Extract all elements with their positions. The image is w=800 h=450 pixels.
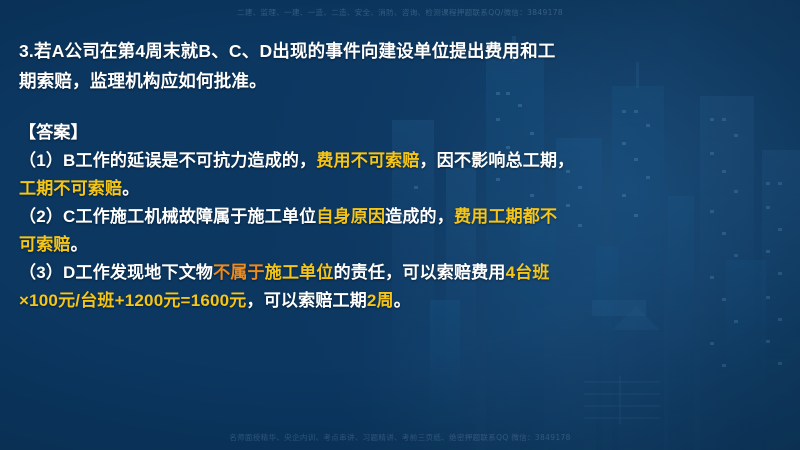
slide-content: 3.若A公司在第4周末就B、C、D出现的事件向建设单位提出费用和工 期索赔，监理…	[0, 0, 800, 450]
a1l2-highlight: 工期不可索赔	[19, 179, 122, 198]
answer-item-2-line-1: （2）C工作施工机械故障属于施工单位自身原因造成的，费用工期都不	[19, 202, 557, 227]
a1l1-post: ，因不影响总工期，	[420, 151, 575, 170]
a2l1-mid: 造成的，	[385, 207, 454, 226]
a2l1-highlight-1: 自身原因	[316, 207, 385, 226]
a3l1-highlight-gold: 施工单位	[265, 263, 334, 282]
a1l1-pre: （1）B工作的延误是不可抗力造成的，	[19, 151, 316, 170]
a1l2-post: 。	[122, 179, 139, 198]
answer-heading: 【答案】	[19, 118, 88, 143]
a3l2-mid: ，可以索赔工期	[247, 291, 367, 310]
answer-item-2-line-2: 可索赔。	[19, 230, 88, 255]
a3l2-highlight-1: ×100元/台班+1200元=1600元	[19, 291, 247, 310]
a2l1-pre: （2）C工作施工机械故障属于施工单位	[19, 207, 316, 226]
answer-item-1-line-1: （1）B工作的延误是不可抗力造成的，费用不可索赔，因不影响总工期，	[19, 146, 574, 171]
answer-item-3-line-1: （3）D工作发现地下文物不属于施工单位的责任，可以索赔费用4台班	[19, 258, 550, 283]
question-line-2: 期索赔，监理机构应如何批准。	[19, 68, 267, 93]
a3l2-highlight-2: 2周	[367, 291, 394, 310]
answer-item-1-line-2: 工期不可索赔。	[19, 174, 139, 199]
a3l1-pre: （3）D工作发现地下文物	[19, 263, 213, 282]
slide-canvas: 二建、监理、一建、一造、二造、安全、消防、咨询、检测课程押题联系QQ/微信：38…	[0, 0, 800, 450]
a3l2-post: 。	[394, 291, 411, 310]
a1l1-highlight: 费用不可索赔	[316, 151, 419, 170]
answer-item-3-line-2: ×100元/台班+1200元=1600元，可以索赔工期2周。	[19, 286, 411, 311]
a2l2-post: 。	[71, 235, 88, 254]
a2l2-highlight: 可索赔	[19, 235, 71, 254]
a3l1-mid: 的责任，可以索赔费用	[334, 263, 506, 282]
question-line-1: 3.若A公司在第4周末就B、C、D出现的事件向建设单位提出费用和工	[19, 38, 555, 63]
a3l1-highlight-orange: 不属于	[213, 263, 265, 282]
a3l1-highlight-gold-2: 4台班	[506, 263, 550, 282]
a2l1-highlight-2: 费用工期都不	[454, 207, 557, 226]
